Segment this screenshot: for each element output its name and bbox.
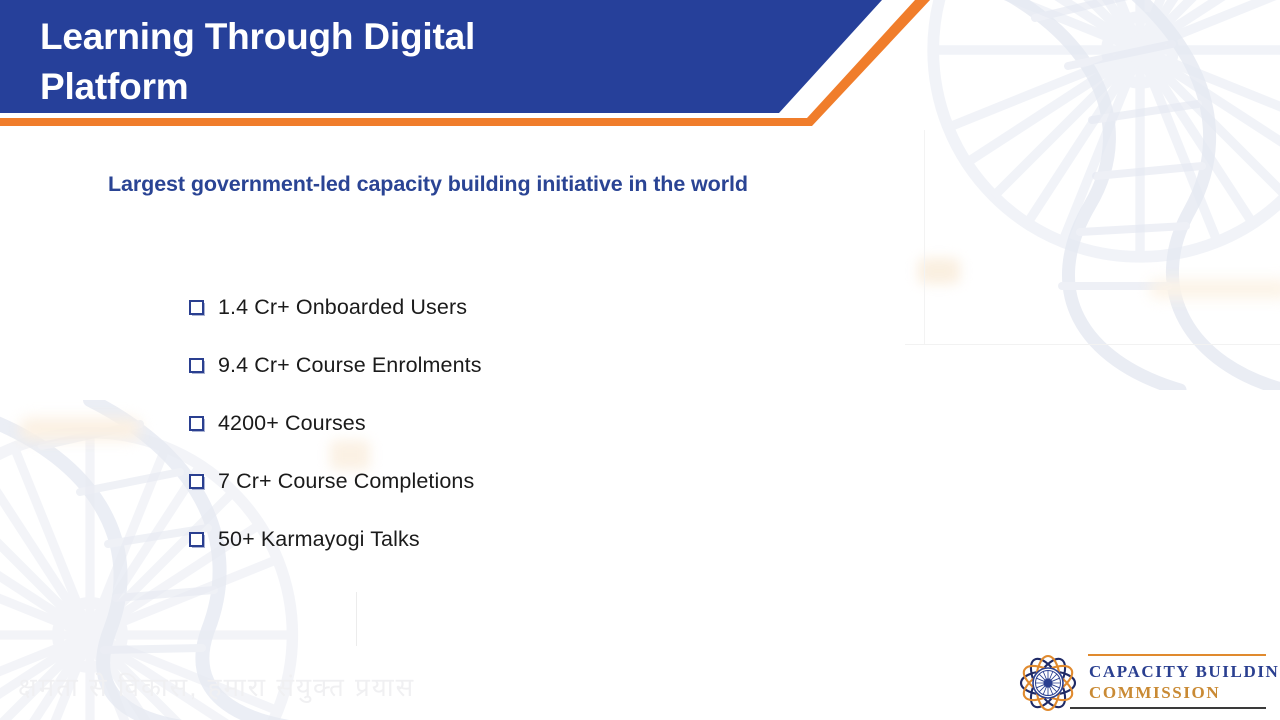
dna-helix-watermark-right [940, 0, 1280, 390]
page-title: Learning Through Digital Platform [40, 12, 680, 112]
list-item-label: 50+ Karmayogi Talks [218, 526, 420, 552]
ashoka-chakra-watermark-right [905, 0, 1280, 285]
wordmark-rule-bottom [1070, 707, 1266, 709]
soft-glow-left [20, 418, 140, 440]
slide-root: Learning Through Digital Platform Larges… [0, 0, 1280, 720]
faint-vertical-rule-left [356, 592, 357, 646]
checkbox-square-icon [189, 532, 204, 547]
list-item-label: 7 Cr+ Course Completions [218, 468, 474, 494]
wordmark-line-1: CAPACITY BUILDING [1089, 662, 1280, 682]
checkbox-square-icon [189, 474, 204, 489]
soft-glow-upper-right [918, 258, 960, 284]
capacity-building-commission-logo: CAPACITY BUILDING COMMISSION [1014, 650, 1268, 716]
list-item: 50+ Karmayogi Talks [189, 526, 482, 584]
header-banner: Learning Through Digital Platform [0, 0, 930, 126]
wordmark-line-2: COMMISSION [1089, 683, 1220, 703]
list-item: 7 Cr+ Course Completions [189, 468, 482, 526]
list-item: 1.4 Cr+ Onboarded Users [189, 294, 482, 352]
checkbox-square-icon [189, 300, 204, 315]
faint-vertical-rule-right [924, 130, 925, 345]
checkbox-square-icon [189, 358, 204, 373]
list-item-label: 1.4 Cr+ Onboarded Users [218, 294, 467, 320]
checkbox-square-icon [189, 416, 204, 431]
commission-wordmark: CAPACITY BUILDING COMMISSION [1088, 654, 1268, 712]
list-item-label: 9.4 Cr+ Course Enrolments [218, 352, 482, 378]
subtitle: Largest government-led capacity building… [108, 172, 748, 197]
list-item-label: 4200+ Courses [218, 410, 366, 436]
list-item: 4200+ Courses [189, 410, 482, 468]
faint-horizontal-rule-right [905, 344, 1280, 345]
soft-glow-right [1150, 280, 1280, 298]
hindi-tagline: क्षमता से विकास, हमारा संयुक्त प्रयास [18, 668, 415, 704]
statistics-list: 1.4 Cr+ Onboarded Users 9.4 Cr+ Course E… [189, 294, 482, 584]
list-item: 9.4 Cr+ Course Enrolments [189, 352, 482, 410]
wordmark-rule-top [1088, 654, 1266, 656]
